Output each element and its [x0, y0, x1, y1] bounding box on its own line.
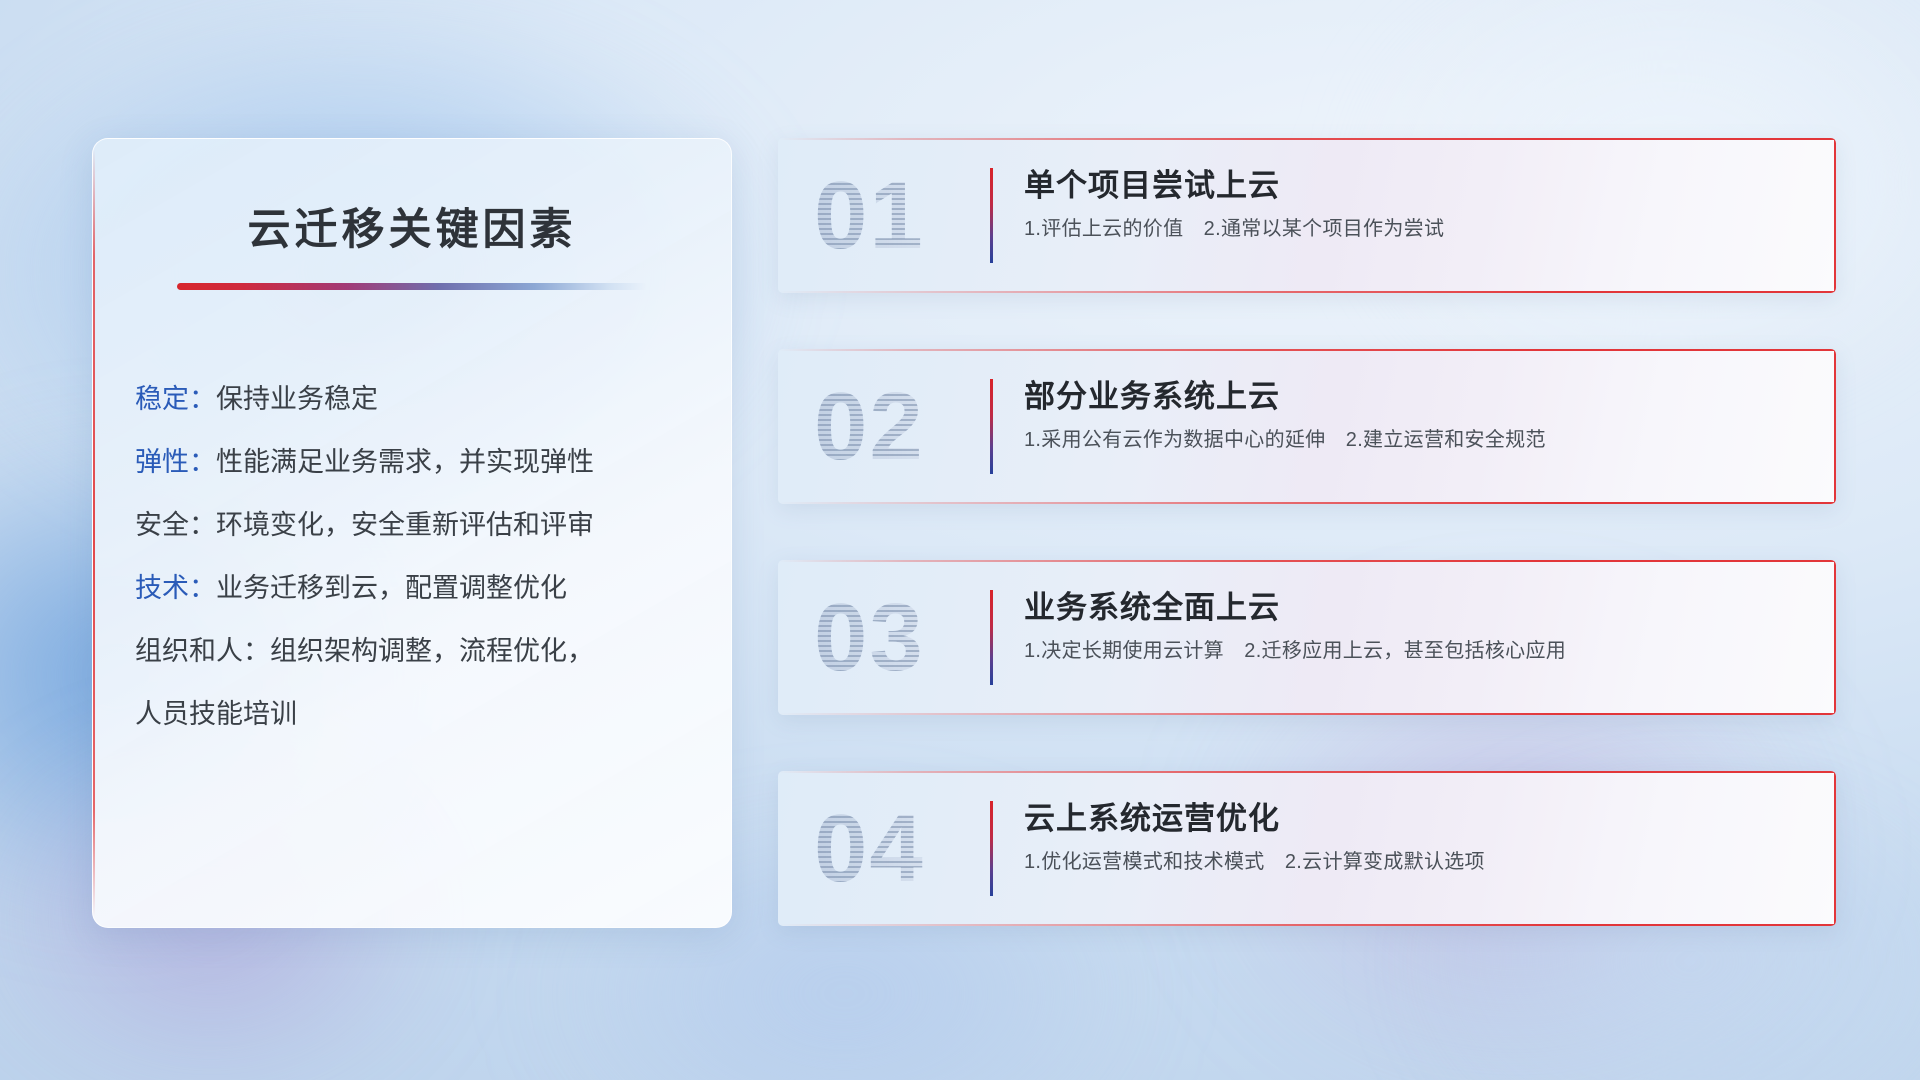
- stage-number: 01: [814, 168, 925, 264]
- stage-title: 部分业务系统上云: [1024, 378, 1806, 417]
- key-factor-value: 组织架构调整，流程优化，: [270, 636, 594, 666]
- card-divider-bar: [990, 801, 993, 896]
- stage-title: 单个项目尝试上云: [1024, 167, 1806, 206]
- card-divider-bar: [990, 590, 993, 685]
- stage-subtitle: 1.评估上云的价值 2.通常以某个项目作为尝试: [1024, 216, 1806, 242]
- stage-title: 云上系统运营优化: [1024, 800, 1806, 839]
- key-factor-label: 弹性：: [135, 447, 216, 477]
- key-factor-item: 组织和人：组织架构调整，流程优化，: [135, 620, 697, 683]
- card-bottom-accent-line: [778, 291, 1836, 293]
- key-factors-list: 稳定：保持业务稳定弹性：性能满足业务需求，并实现弹性安全：环境变化，安全重新评估…: [93, 368, 731, 746]
- card-bottom-accent-line: [778, 502, 1836, 504]
- stage-card[interactable]: 04云上系统运营优化1.优化运营模式和技术模式 2.云计算变成默认选项: [778, 771, 1836, 926]
- key-factor-value: 性能满足业务需求，并实现弹性: [216, 447, 594, 477]
- key-factor-value: 保持业务稳定: [216, 384, 378, 414]
- card-bottom-accent-line: [778, 713, 1836, 715]
- key-factor-item: 人员技能培训: [135, 683, 697, 746]
- card-right-accent-line: [1834, 138, 1836, 293]
- stage-title: 业务系统全面上云: [1024, 589, 1806, 628]
- card-top-accent-line: [778, 771, 1836, 773]
- card-divider-bar: [990, 168, 993, 263]
- card-right-accent-line: [1834, 771, 1836, 926]
- card-bottom-accent-line: [778, 924, 1836, 926]
- card-divider-bar: [990, 379, 993, 474]
- card-text-block: 单个项目尝试上云1.评估上云的价值 2.通常以某个项目作为尝试: [1024, 167, 1806, 242]
- key-factor-value: 环境变化，安全重新评估和评审: [216, 510, 594, 540]
- card-text-block: 云上系统运营优化1.优化运营模式和技术模式 2.云计算变成默认选项: [1024, 800, 1806, 875]
- card-right-accent-line: [1834, 349, 1836, 504]
- stage-card[interactable]: 02部分业务系统上云1.采用公有云作为数据中心的延伸 2.建立运营和安全规范: [778, 349, 1836, 504]
- migration-stage-cards: 01单个项目尝试上云1.评估上云的价值 2.通常以某个项目作为尝试02部分业务系…: [778, 138, 1836, 926]
- stage-subtitle: 1.优化运营模式和技术模式 2.云计算变成默认选项: [1024, 849, 1806, 875]
- card-top-accent-line: [778, 349, 1836, 351]
- panel-title: 云迁移关键因素: [93, 195, 731, 257]
- stage-number: 03: [814, 590, 925, 686]
- key-factor-value: 人员技能培训: [135, 699, 297, 729]
- key-factor-item: 技术：业务迁移到云，配置调整优化: [135, 557, 697, 620]
- key-factor-label: 技术：: [135, 573, 216, 603]
- card-top-accent-line: [778, 138, 1836, 140]
- stage-card[interactable]: 01单个项目尝试上云1.评估上云的价值 2.通常以某个项目作为尝试: [778, 138, 1836, 293]
- stage-card[interactable]: 03业务系统全面上云1.决定长期使用云计算 2.迁移应用上云，甚至包括核心应用: [778, 560, 1836, 715]
- stage-subtitle: 1.决定长期使用云计算 2.迁移应用上云，甚至包括核心应用: [1024, 638, 1806, 664]
- title-underline-rule: [177, 283, 647, 290]
- card-top-accent-line: [778, 560, 1836, 562]
- key-factor-item: 弹性：性能满足业务需求，并实现弹性: [135, 431, 697, 494]
- key-factor-value: 业务迁移到云，配置调整优化: [216, 573, 567, 603]
- key-factor-label: 组织和人：: [135, 636, 270, 666]
- stage-number: 04: [814, 801, 925, 897]
- key-factors-panel: 云迁移关键因素 稳定：保持业务稳定弹性：性能满足业务需求，并实现弹性安全：环境变…: [92, 138, 732, 928]
- card-right-accent-line: [1834, 560, 1836, 715]
- key-factor-item: 安全：环境变化，安全重新评估和评审: [135, 494, 697, 557]
- key-factor-label: 稳定：: [135, 384, 216, 414]
- card-text-block: 业务系统全面上云1.决定长期使用云计算 2.迁移应用上云，甚至包括核心应用: [1024, 589, 1806, 664]
- key-factor-item: 稳定：保持业务稳定: [135, 368, 697, 431]
- key-factor-label: 安全：: [135, 510, 216, 540]
- stage-number: 02: [814, 379, 925, 475]
- stage-subtitle: 1.采用公有云作为数据中心的延伸 2.建立运营和安全规范: [1024, 427, 1806, 453]
- card-text-block: 部分业务系统上云1.采用公有云作为数据中心的延伸 2.建立运营和安全规范: [1024, 378, 1806, 453]
